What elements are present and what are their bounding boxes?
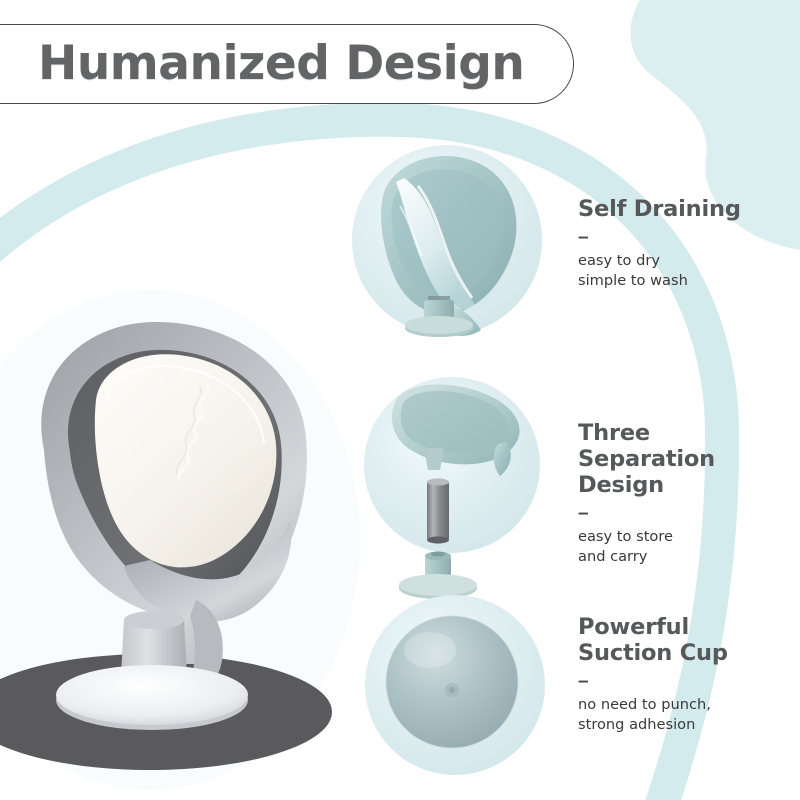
feature-heading: Three Separation Design [578, 420, 794, 498]
feature-image-three-separation [364, 377, 540, 599]
page-title: Humanized Design [38, 34, 524, 94]
feature-text-suction-cup: Powerful Suction Cup – no need to punch,… [578, 614, 778, 735]
feature-image-suction-cup [365, 595, 545, 775]
feature-separator: – [578, 229, 741, 247]
feature-image-self-draining [352, 145, 542, 337]
feature-subtext: easy to dry simple to wash [578, 251, 741, 291]
product-feature-infographic: Humanized Design Self Draining – easy to… [0, 0, 800, 800]
feature-separator: – [578, 505, 794, 523]
feature-subtext: no need to punch, strong adhesion [578, 695, 778, 735]
feature-heading: Powerful Suction Cup [578, 614, 778, 666]
feature-text-self-draining: Self Draining – easy to dry simple to wa… [578, 196, 741, 291]
feature-subtext: easy to store and carry [578, 527, 794, 567]
feature-text-three-separation: Three Separation Design – easy to store … [578, 420, 794, 567]
feature-separator: – [578, 673, 778, 691]
feature-heading: Self Draining [578, 196, 741, 222]
